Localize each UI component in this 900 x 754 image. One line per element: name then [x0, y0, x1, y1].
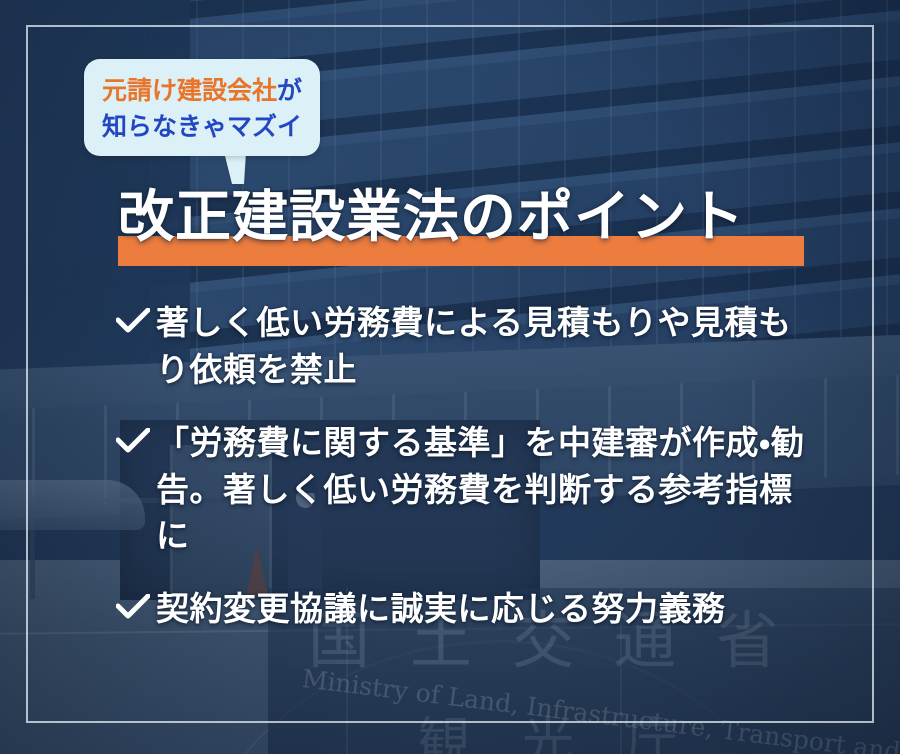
- page-title: 改正建設業法のポイント: [118, 188, 808, 247]
- list-item-label: 「労務費に関する基準」を中建審が作成・勧告。著しく低い労務費を判断する参考指標に: [156, 420, 820, 561]
- list-item-label: 契約変更協議に誠実に応じる努力義務: [156, 586, 820, 633]
- bullet-list: 著しく低い労務費による見積もりや見積もり依頼を禁止 「労務費に関する基準」を中建…: [110, 300, 820, 659]
- speech-bubble: 元請け建設会社が 知らなきゃマズイ: [84, 59, 320, 156]
- speech-bubble-line-1-particle: が: [277, 77, 302, 105]
- list-item: 著しく低い労務費による見積もりや見積もり依頼を禁止: [110, 300, 820, 394]
- check-icon: [110, 300, 156, 334]
- title-block: 改正建設業法のポイント: [118, 188, 808, 268]
- check-icon: [110, 586, 156, 620]
- list-item: 「労務費に関する基準」を中建審が作成・勧告。著しく低い労務費を判断する参考指標に: [110, 420, 820, 561]
- speech-bubble-line-2: 知らなきゃマズイ: [84, 115, 320, 140]
- check-icon: [110, 420, 156, 454]
- poster-canvas: 国土交通省 Ministry of Land, Infrastructure, …: [0, 0, 900, 754]
- speech-bubble-line-1-highlight: 元請け建設会社: [102, 77, 277, 105]
- speech-bubble-line-1: 元請け建設会社が: [84, 79, 320, 104]
- list-item-label: 著しく低い労務費による見積もりや見積もり依頼を禁止: [156, 300, 820, 394]
- list-item: 契約変更協議に誠実に応じる努力義務: [110, 586, 820, 633]
